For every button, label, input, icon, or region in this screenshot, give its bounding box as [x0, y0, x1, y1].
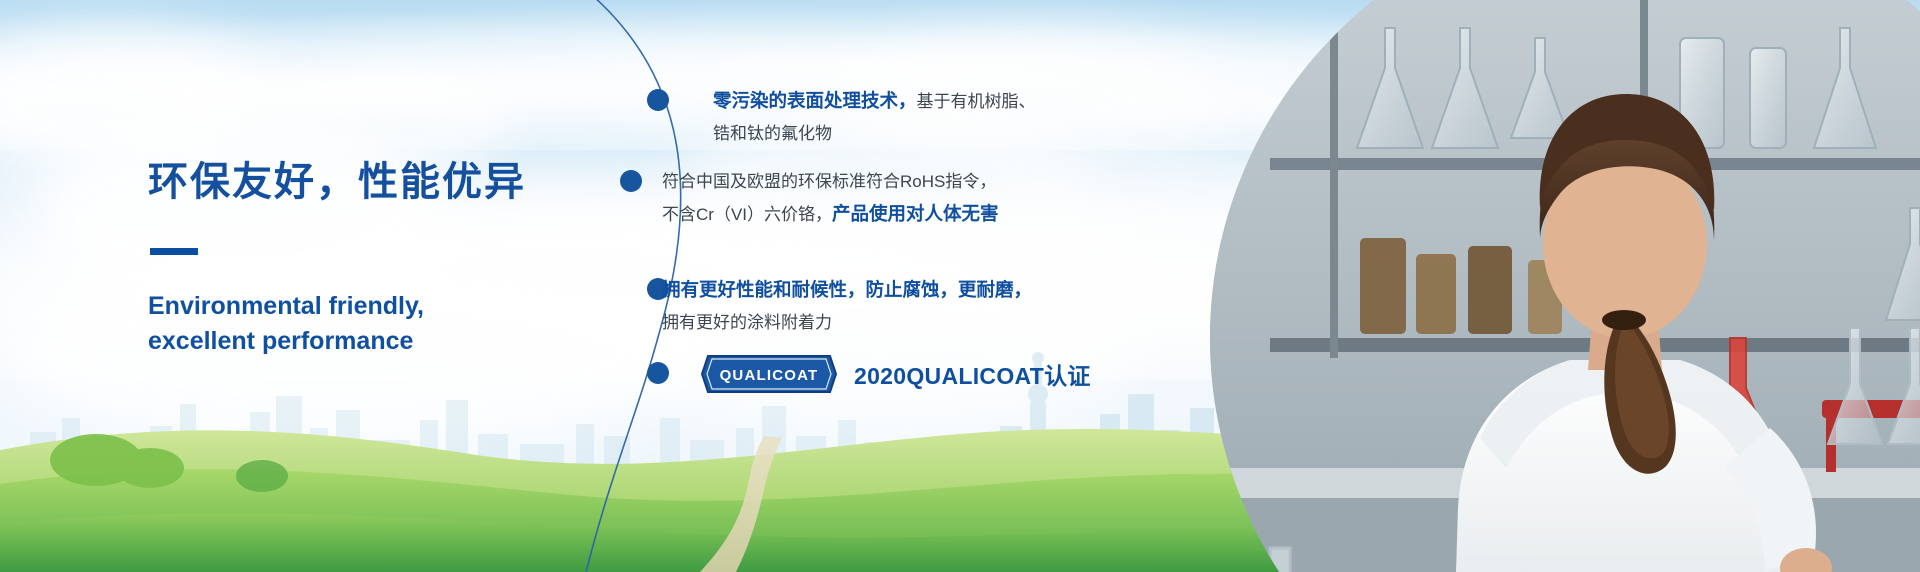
feature-plain: 不含Cr（VI）六价铬，: [662, 205, 832, 224]
bullet-dot-icon: [647, 89, 669, 111]
feature-line-2: 不含Cr（VI）六价铬，产品使用对人体无害: [662, 198, 999, 231]
feature-plain: 锆和钛的氟化物: [713, 124, 832, 143]
qualicoat-logo: QUALICOAT: [698, 352, 840, 396]
feature-highlight: 零污染的表面处理技术，: [713, 90, 917, 111]
feature-plain: 拥有更好的涂料附着力: [662, 313, 832, 332]
feature-line-2: 锆和钛的氟化物: [713, 118, 1036, 150]
feature-highlight: 拥有更好性能和耐候性，防止腐蚀，更耐磨，: [662, 279, 1032, 300]
photo-container: [1100, 0, 1920, 572]
certification-row: QUALICOAT 2020QUALICOAT认证: [698, 352, 1091, 396]
feature-line-1: 拥有更好性能和耐候性，防止腐蚀，更耐磨，: [662, 274, 1032, 307]
feature-line-2: 拥有更好的涂料附着力: [662, 307, 1032, 339]
feature-plain: 符合中国及欧盟的环保标准符合RoHS指令，: [662, 172, 996, 191]
feature-text: 拥有更好性能和耐候性，防止腐蚀，更耐磨， 拥有更好的涂料附着力: [662, 274, 1032, 339]
feature-list: 零污染的表面处理技术，基于有机树脂、 锆和钛的氟化物 符合中国及欧盟的环保标准符…: [0, 0, 1100, 572]
svg-text:QUALICOAT: QUALICOAT: [720, 367, 819, 384]
feature-line-1: 符合中国及欧盟的环保标准符合RoHS指令，: [662, 166, 999, 198]
bullet-dot-icon: [620, 170, 642, 192]
qualicoat-logo-icon: QUALICOAT: [698, 352, 840, 396]
lab-technician-photo: [1210, 0, 1920, 572]
feature-text: 零污染的表面处理技术，基于有机树脂、 锆和钛的氟化物: [713, 85, 1036, 150]
bullet-dot-icon: [647, 362, 669, 384]
certification-label: 2020QUALICOAT认证: [854, 357, 1091, 391]
lab-scene-illustration: [1210, 0, 1920, 572]
promo-banner: 环保友好，性能优异 Environmental friendly, excell…: [0, 0, 1920, 572]
feature-text: 符合中国及欧盟的环保标准符合RoHS指令， 不含Cr（VI）六价铬，产品使用对人…: [662, 166, 999, 231]
feature-line-1: 零污染的表面处理技术，基于有机树脂、: [713, 85, 1036, 118]
feature-plain: 基于有机树脂、: [917, 92, 1036, 111]
feature-highlight: 产品使用对人体无害: [832, 203, 999, 224]
